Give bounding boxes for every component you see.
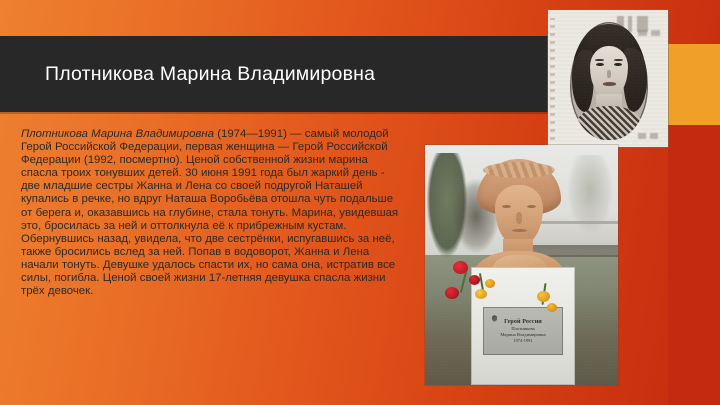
bust-face [495, 185, 543, 245]
portrait-hair-right [623, 48, 647, 112]
slide: Плотникова Марина Владимировна Плотников… [0, 0, 720, 405]
flower-yellow [485, 279, 495, 288]
portrait-hair [574, 24, 644, 86]
portrait-mouth [603, 82, 616, 86]
flower-yellow [547, 303, 557, 312]
accent-block-red [668, 125, 720, 405]
bust-eye-left [502, 205, 511, 208]
flower-yellow [537, 291, 550, 302]
flower-red [453, 261, 468, 274]
monument-flowers [425, 253, 618, 317]
flower-yellow [475, 289, 487, 299]
newspaper-portrait-photo [548, 10, 668, 147]
portrait-eye-right [614, 63, 622, 66]
portrait-eye-left [596, 63, 604, 66]
plaque-name-patronymic: Марина Владимировна [500, 332, 545, 337]
portrait-blouse [574, 106, 644, 140]
portrait-brow-left [595, 59, 604, 61]
accent-block-yellow [668, 44, 720, 125]
bust-braid [483, 162, 555, 178]
bust-eye-right [527, 205, 536, 208]
portrait-brow-right [614, 59, 623, 61]
portrait-oval-frame [570, 22, 648, 140]
portrait-neck [596, 94, 622, 114]
monument-bust-photo: Герой России Плотникова Марина Владимиро… [425, 145, 618, 385]
title-band-shadow [0, 112, 549, 114]
bust-nose [516, 212, 522, 224]
body-paragraph: Плотникова Марина Владимировна (1974—199… [21, 128, 402, 298]
body-lead: Плотникова Марина Владимировна [21, 128, 214, 140]
plaque-surname: Плотникова [511, 326, 534, 331]
plaque-hero-title: Герой России [504, 319, 542, 325]
bust-mouth [512, 229, 527, 232]
flower-red [445, 287, 459, 299]
monument-tree-right [568, 155, 612, 233]
portrait-hair-left [572, 50, 594, 112]
page-title: Плотникова Марина Владимировна [45, 36, 545, 112]
body-rest: (1974—1991) — самый молодой Герой Россий… [21, 128, 398, 297]
flower-red [469, 275, 480, 285]
clipping-edge-marks [550, 18, 555, 140]
portrait-face [590, 46, 628, 98]
portrait-nose [607, 70, 611, 78]
plaque-dates: 1974-1991 [513, 338, 532, 343]
